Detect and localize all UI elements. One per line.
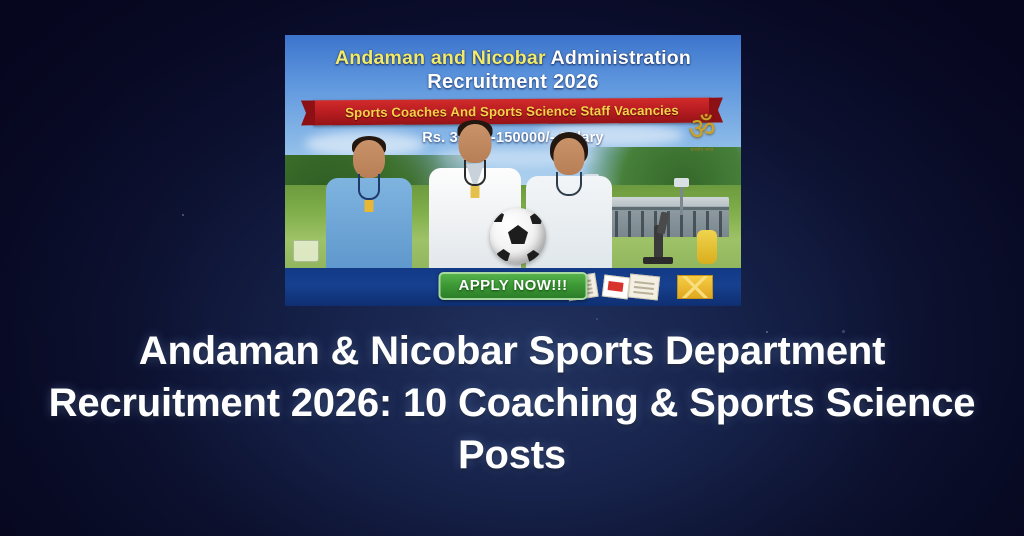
floodlight-pole bbox=[680, 185, 683, 215]
page-background: Andaman and Nicobar Administration Recru… bbox=[0, 0, 1024, 536]
microscope-base bbox=[643, 257, 673, 264]
ball-pentagon bbox=[527, 250, 540, 262]
banner-canvas: Andaman and Nicobar Administration Recru… bbox=[285, 35, 741, 306]
emblem-glyph: ॐ bbox=[685, 113, 719, 147]
banner-bottom-strip: APPLY NOW!!! bbox=[285, 268, 741, 306]
page-title: Andaman & Nicobar Sports Department Recr… bbox=[0, 325, 1024, 481]
stethoscope-icon bbox=[556, 172, 582, 196]
banner-title-line2: Recruitment 2026 bbox=[285, 71, 741, 94]
id-badge-shape bbox=[365, 200, 374, 212]
lab-flask-icon bbox=[697, 230, 717, 264]
person-coach-blue bbox=[323, 124, 415, 272]
ball-pentagon bbox=[508, 225, 528, 244]
soccer-ball-icon bbox=[490, 208, 546, 264]
ball-pentagon bbox=[497, 249, 510, 261]
head-shape bbox=[459, 124, 492, 163]
banner-title-rest: Administration bbox=[546, 47, 691, 69]
beaker-icon bbox=[293, 240, 319, 262]
lanyard-shape bbox=[358, 174, 380, 200]
head-shape bbox=[353, 140, 385, 178]
recruitment-banner-image: Andaman and Nicobar Administration Recru… bbox=[285, 35, 741, 306]
banner-title-highlight: Andaman and Nicobar bbox=[335, 47, 546, 69]
envelope-icon bbox=[677, 275, 713, 299]
head-shape bbox=[554, 138, 585, 175]
id-badge-shape bbox=[471, 186, 480, 198]
emblem-motto: सत्यमेव जयते bbox=[685, 147, 719, 153]
india-national-emblem-icon: ॐ सत्यमेव जयते bbox=[685, 113, 719, 159]
background-speck bbox=[596, 318, 598, 320]
certificate-icon bbox=[602, 274, 630, 299]
document-icon bbox=[628, 273, 660, 300]
background-speck bbox=[182, 214, 184, 216]
banner-title-line1: Andaman and Nicobar Administration bbox=[285, 47, 741, 70]
apply-now-button[interactable]: APPLY NOW!!! bbox=[439, 272, 588, 300]
lanyard-shape bbox=[464, 160, 486, 186]
